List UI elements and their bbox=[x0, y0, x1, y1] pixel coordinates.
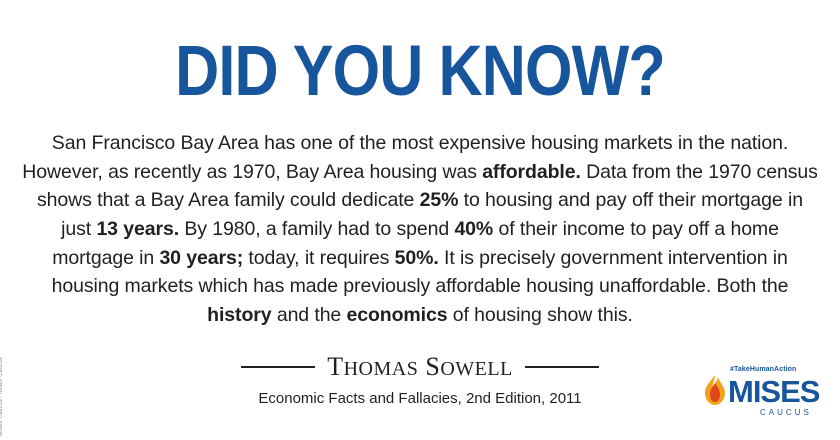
page-title: DID YOU KNOW? bbox=[59, 0, 781, 107]
mises-caucus-logo[interactable]: #TakeHumanAction MISES CAUCUS bbox=[698, 366, 826, 428]
body-text: and the bbox=[272, 304, 347, 326]
author-first-rest: HOMAS bbox=[344, 358, 419, 380]
body-emphasis: 50%. bbox=[395, 247, 439, 269]
body-emphasis: history bbox=[207, 304, 271, 326]
rule-left bbox=[241, 366, 315, 368]
body-emphasis: affordable. bbox=[482, 161, 581, 183]
logo-hashtag: #TakeHumanAction bbox=[730, 366, 796, 373]
author-name: THOMAS SOWELL bbox=[327, 352, 513, 382]
body-emphasis: 13 years. bbox=[96, 218, 179, 240]
body-text: of housing show this. bbox=[447, 304, 632, 326]
body-text: By 1980, a family had to spend bbox=[179, 218, 454, 240]
body-paragraph: San Francisco Bay Area has one of the mo… bbox=[22, 129, 818, 330]
author-last-rest: OWELL bbox=[440, 358, 512, 380]
body-emphasis: 25% bbox=[420, 189, 459, 211]
author-last-initial: S bbox=[425, 352, 440, 381]
quote-card: DID YOU KNOW? San Francisco Bay Area has… bbox=[0, 0, 840, 440]
logo-wordmark: MISES bbox=[728, 376, 819, 407]
rule-right bbox=[525, 366, 599, 368]
body-emphasis: economics bbox=[347, 304, 448, 326]
body-emphasis: 30 years; bbox=[159, 247, 243, 269]
logo-subtitle: CAUCUS bbox=[760, 408, 812, 417]
flame-icon bbox=[702, 374, 728, 406]
vertical-credit-text: Mises Caucus / Mises Caucus bbox=[0, 357, 4, 436]
author-first-initial: T bbox=[327, 352, 343, 381]
body-emphasis: 40% bbox=[454, 218, 493, 240]
body-text: today, it requires bbox=[243, 247, 395, 269]
